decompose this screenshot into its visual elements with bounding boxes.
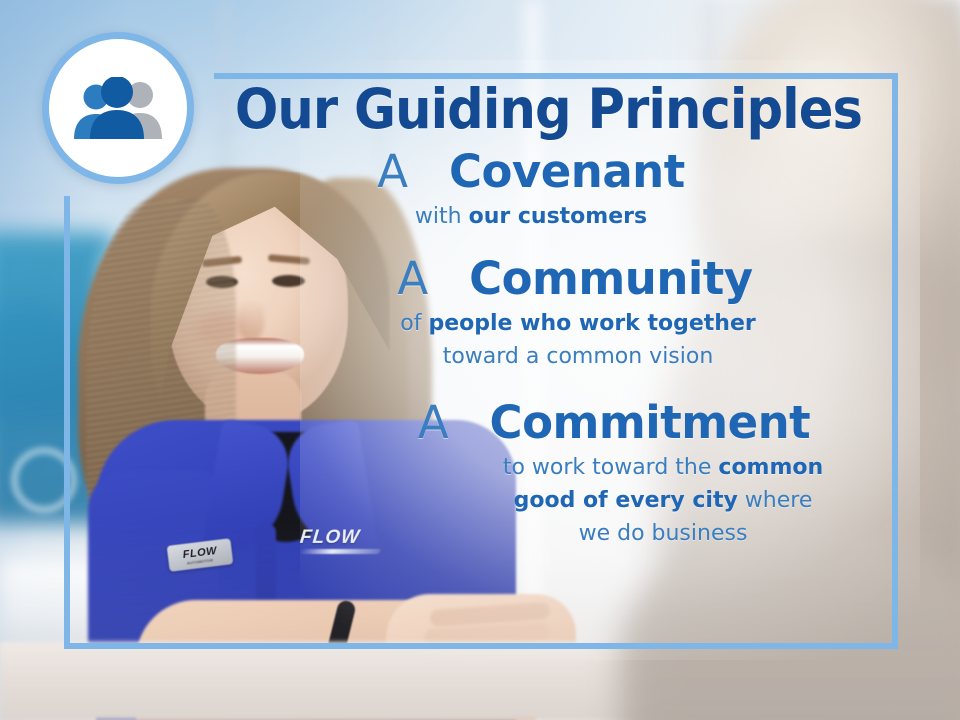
detail-bold: people who work together [428, 311, 755, 336]
principle-detail-line: to work toward the common [362, 453, 898, 482]
principle-community: A Community of people who work together … [210, 253, 898, 371]
principle-detail-line: with our customers [210, 202, 852, 231]
principle-heading: A Commitment [330, 397, 898, 449]
principle-article: A [418, 396, 448, 449]
principle-keyword: Community [469, 252, 753, 305]
detail-plain: to work toward the [503, 455, 719, 480]
shirt-logo-swoosh [299, 549, 381, 554]
detail-plain: toward a common vision [443, 344, 714, 369]
people-group-icon [70, 77, 166, 139]
detail-plain: of [400, 311, 428, 336]
detail-bold: our customers [469, 204, 648, 229]
principle-heading: A Community [252, 253, 898, 305]
principle-detail-line: of people who work together [252, 309, 898, 338]
principle-article: A [377, 145, 407, 198]
principle-commitment: A Commitment to work toward the common g… [210, 397, 898, 548]
principle-heading: A Covenant [210, 146, 852, 198]
principle-detail-line: good of every city where [362, 486, 898, 515]
detail-bold: good of every city [514, 488, 738, 513]
blurred-brand-logo [12, 448, 76, 512]
detail-plain: we do business [579, 521, 748, 546]
page-title: Our Guiding Principles [234, 78, 874, 140]
principle-detail-line: toward a common vision [252, 342, 898, 371]
detail-plain-after: where [738, 488, 813, 513]
people-group-icon-badge [42, 32, 194, 184]
principles-banner: FLOW AUTOMOTIVE FLOW [0, 0, 960, 720]
detail-bold: common [718, 455, 823, 480]
copy-block: Our Guiding Principles A Covenant with o… [210, 78, 898, 548]
principle-keyword: Covenant [449, 145, 685, 198]
principle-article: A [397, 252, 427, 305]
detail-plain: with [415, 204, 469, 229]
principle-detail-line: we do business [362, 519, 898, 548]
principle-covenant: A Covenant with our customers [210, 146, 898, 231]
principle-keyword: Commitment [490, 396, 811, 449]
